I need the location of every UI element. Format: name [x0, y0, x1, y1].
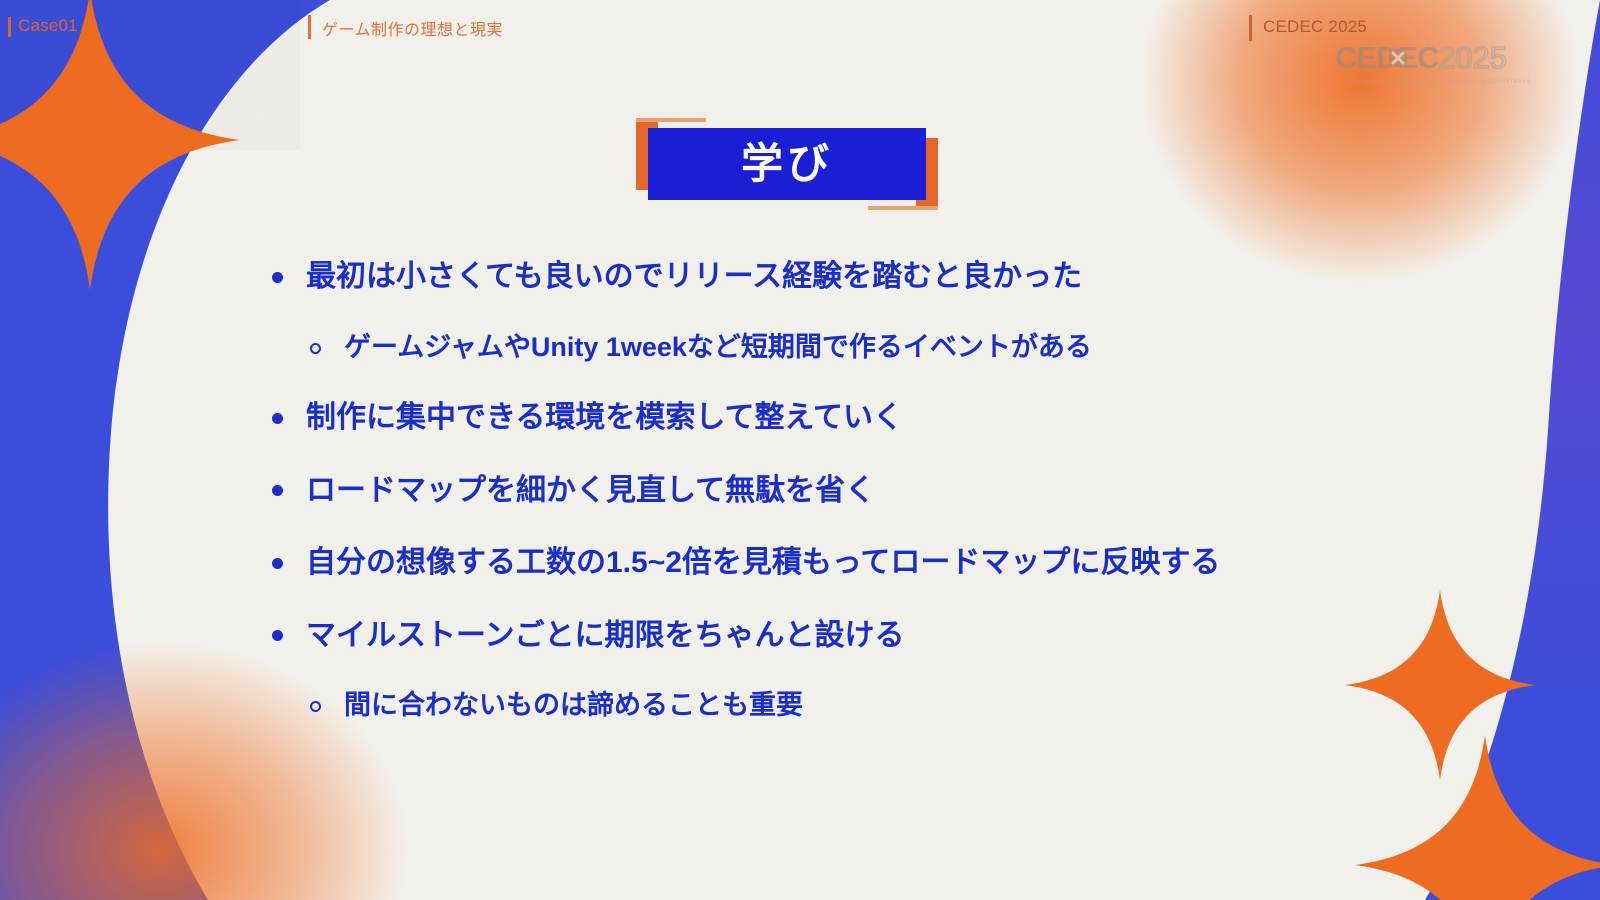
- cedec-logo-wordmark: CEDEC: [1335, 40, 1439, 75]
- cedec-logo-x-mark: [1389, 49, 1408, 68]
- bullet-marker-shape: [272, 630, 283, 641]
- bullet-marker-shape: [272, 485, 283, 496]
- bullet-disc-icon: [272, 258, 306, 283]
- bullet-text: ゲームジャムやUnity 1weekなど短期間で作るイベントがある: [344, 331, 1332, 365]
- sparkle-icon-top-left: [0, 0, 240, 290]
- cedec-logo-tagline: Computer Entertainment Developers Confer…: [1349, 78, 1532, 85]
- bullet-item: 間に合わないものは諦めることも重要: [272, 689, 1332, 723]
- title-plate: 学び: [648, 128, 926, 200]
- bullet-marker-shape: [272, 413, 283, 424]
- bullet-disc-icon: [272, 472, 306, 497]
- header-case-label: Case01: [18, 16, 78, 36]
- bullet-text: 制作に集中できる環境を模索して整えていく: [306, 399, 1332, 437]
- bullet-text: 自分の想像する工数の1.5~2倍を見積もってロードマップに反映する: [306, 544, 1332, 582]
- bullet-marker-shape: [272, 272, 283, 283]
- page-title: 学び: [741, 143, 833, 185]
- bullet-item: ロードマップを細かく見直して無駄を省く: [272, 472, 1332, 510]
- bullet-text: ロードマップを細かく見直して無駄を省く: [306, 472, 1332, 510]
- header-conference-tick: [1249, 15, 1252, 41]
- header-case-tick: [8, 17, 11, 37]
- bullet-marker-shape: [272, 558, 283, 569]
- header-section-tick: [308, 15, 311, 39]
- cedec-logo: CEDEC 2025 Computer Entertainment Develo…: [1335, 38, 1535, 90]
- slide-title-block: 学び: [636, 118, 938, 210]
- bullet-text: 間に合わないものは諦めることも重要: [344, 689, 1332, 723]
- header-case-text: Case01: [18, 16, 78, 35]
- bullet-item: マイルストーンごとに期限をちゃんと設ける: [272, 617, 1332, 655]
- header-section-text: ゲーム制作の理想と現実: [322, 22, 503, 39]
- bullet-text: マイルストーンごとに期限をちゃんと設ける: [306, 617, 1332, 655]
- bullet-circle-icon: [310, 689, 344, 712]
- bullet-disc-icon: [272, 544, 306, 569]
- header-conference-label: CEDEC 2025: [1263, 17, 1367, 37]
- bullet-text: 最初は小さくても良いのでリリース経験を踏むと良かった: [306, 258, 1332, 296]
- bullet-list: 最初は小さくても良いのでリリース経験を踏むと良かったゲームジャムやUnity 1…: [272, 258, 1332, 758]
- sparkle-icon-bottom-right: [1350, 735, 1600, 900]
- header-section-title: ゲーム制作の理想と現実: [322, 16, 503, 40]
- bullet-item: 最初は小さくても良いのでリリース経験を踏むと良かった: [272, 258, 1332, 296]
- bullet-disc-icon: [272, 399, 306, 424]
- bullet-marker-shape: [310, 701, 321, 712]
- bullet-disc-icon: [272, 617, 306, 642]
- bullet-circle-icon: [310, 331, 344, 354]
- header-conference-text: CEDEC 2025: [1263, 17, 1367, 36]
- bullet-item: ゲームジャムやUnity 1weekなど短期間で作るイベントがある: [272, 331, 1332, 365]
- cedec-logo-year: 2025: [1438, 40, 1507, 75]
- bullet-item: 自分の想像する工数の1.5~2倍を見積もってロードマップに反映する: [272, 544, 1332, 582]
- slide: Case01 ゲーム制作の理想と現実 CEDEC 2025 CEDEC 2025…: [0, 0, 1600, 900]
- bullet-item: 制作に集中できる環境を模索して整えていく: [272, 399, 1332, 437]
- bullet-marker-shape: [310, 343, 321, 354]
